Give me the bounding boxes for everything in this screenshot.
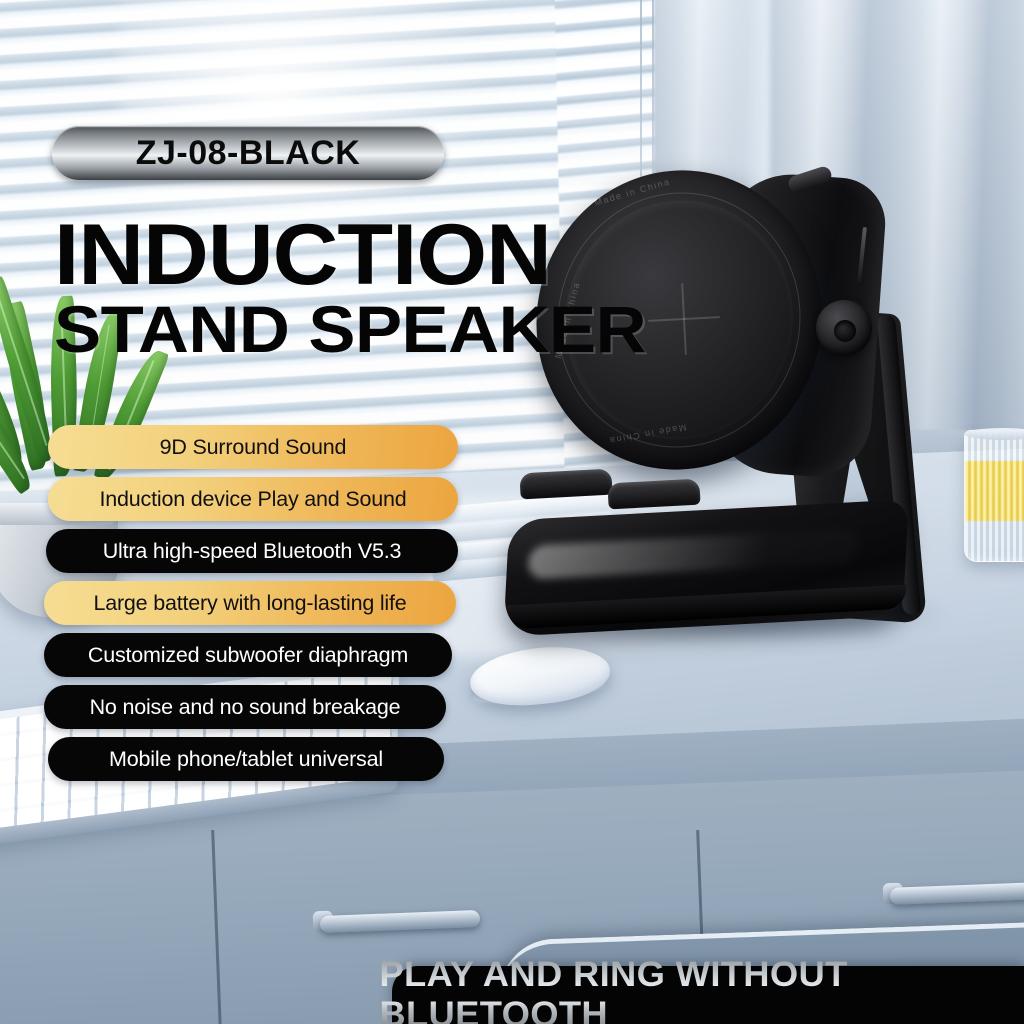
headline-line-1: INDUCTION (54, 218, 641, 294)
stand-front-hook-right (607, 479, 700, 510)
feature-pill: Large battery with long-lasting life (44, 581, 456, 625)
page-title: INDUCTION STAND SPEAKER (54, 218, 607, 358)
bottom-banner: PLAY AND RING WITHOUT BLUETOOTH (392, 966, 1024, 1024)
feature-pill-label: Large battery with long-lasting life (93, 591, 406, 616)
bottom-banner-label: PLAY AND RING WITHOUT BLUETOOTH (379, 955, 1024, 1024)
feature-pill-label: 9D Surround Sound (160, 435, 347, 460)
juice-liquid (965, 461, 1024, 521)
feature-pill: Mobile phone/tablet universal (48, 737, 444, 781)
product-advertisement-image: Made in China Made in China Made in Chin… (0, 0, 1024, 1024)
feature-pill-label: Induction device Play and Sound (100, 487, 407, 512)
stand-front-hook-left (519, 469, 612, 500)
feature-pill: Ultra high-speed Bluetooth V5.3 (46, 529, 458, 573)
feature-pill-label: Customized subwoofer diaphragm (88, 643, 408, 668)
feature-pill: 9D Surround Sound (48, 425, 458, 469)
model-badge-label: ZJ-08-BLACK (136, 134, 361, 173)
feature-pill-label: Mobile phone/tablet universal (109, 747, 383, 772)
feature-pill: Induction device Play and Sound (48, 477, 458, 521)
feature-pill: No noise and no sound breakage (44, 685, 446, 729)
feature-pill: Customized subwoofer diaphragm (44, 633, 452, 677)
feature-pill-label: No noise and no sound breakage (90, 695, 401, 720)
cross-emboss-icon (643, 278, 724, 359)
model-badge: ZJ-08-BLACK (52, 126, 444, 180)
juice-glass (964, 430, 1024, 562)
stand-pivot-hole (834, 320, 856, 342)
feature-list: 9D Surround SoundInduction device Play a… (0, 425, 470, 789)
feature-pill-label: Ultra high-speed Bluetooth V5.3 (103, 539, 402, 564)
headline-line-2: STAND SPEAKER (54, 300, 646, 358)
